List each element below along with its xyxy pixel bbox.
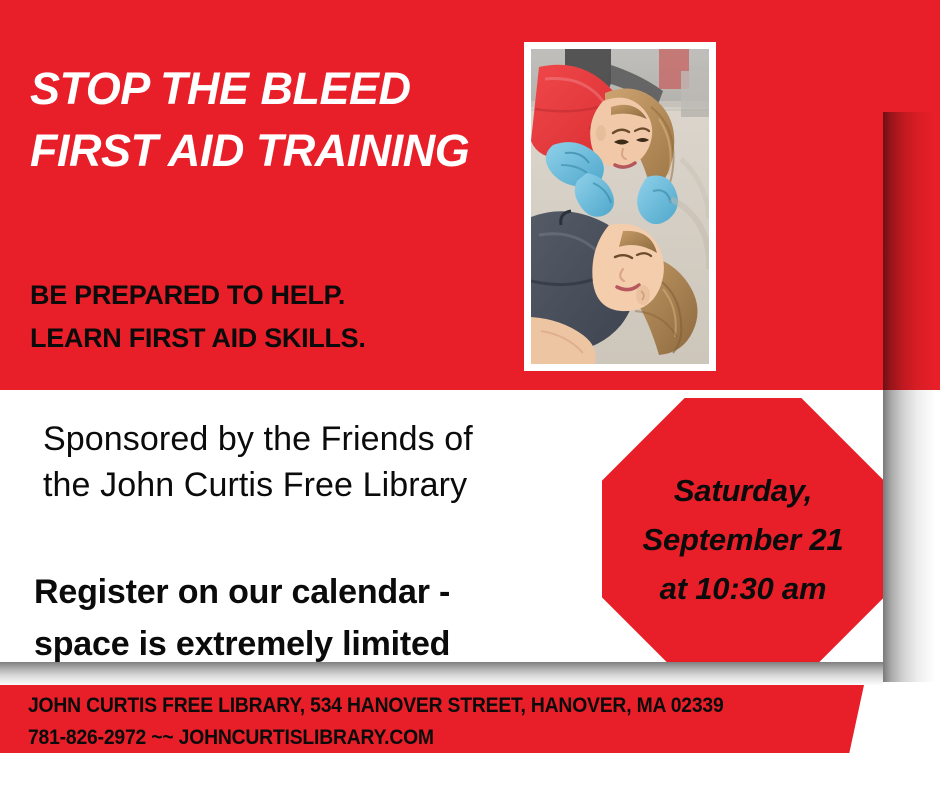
octagon-shape bbox=[602, 398, 883, 662]
footer-contact-info: JOHN CURTIS FREE LIBRARY, 534 HANOVER ST… bbox=[28, 690, 792, 754]
footer-phone-website: 781-826-2972 ~~ JOHNCURTISLIBRARY.COM bbox=[28, 722, 792, 754]
sponsor-text: Sponsored by the Friends of the John Cur… bbox=[43, 416, 563, 508]
headline-line-1: STOP THE BLEED bbox=[30, 63, 411, 114]
event-date: September 21 bbox=[643, 515, 844, 564]
subheading-line-1: BE PREPARED TO HELP. bbox=[30, 280, 345, 310]
headline-line-2: FIRST AID TRAINING bbox=[30, 120, 500, 182]
stop-sign-badge: Saturday, September 21 at 10:30 am bbox=[602, 398, 883, 662]
event-date-time: Saturday, September 21 at 10:30 am bbox=[602, 398, 883, 662]
register-line-1: Register on our calendar - bbox=[34, 566, 564, 618]
register-line-2: space is extremely limited bbox=[34, 618, 564, 670]
photo-frame bbox=[524, 42, 716, 371]
page-title: STOP THE BLEED FIRST AID TRAINING bbox=[30, 58, 500, 182]
flyer-poster: STOP THE BLEED FIRST AID TRAINING BE PRE… bbox=[0, 0, 940, 788]
first-aid-training-photo bbox=[531, 49, 709, 364]
register-text: Register on our calendar - space is extr… bbox=[34, 566, 564, 670]
sponsor-line-1: Sponsored by the Friends of bbox=[43, 416, 563, 462]
event-day: Saturday, bbox=[674, 466, 812, 515]
event-time: at 10:30 am bbox=[660, 564, 827, 613]
subheading-line-2: LEARN FIRST AID SKILLS. bbox=[30, 317, 500, 360]
sponsor-line-2: the John Curtis Free Library bbox=[43, 462, 563, 508]
footer-address: JOHN CURTIS FREE LIBRARY, 534 HANOVER ST… bbox=[28, 690, 792, 722]
subheading: BE PREPARED TO HELP. LEARN FIRST AID SKI… bbox=[30, 274, 500, 360]
